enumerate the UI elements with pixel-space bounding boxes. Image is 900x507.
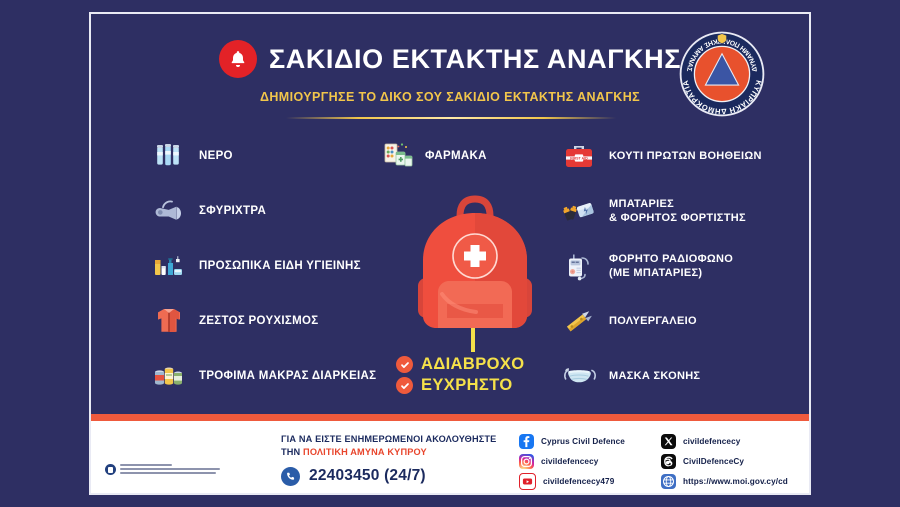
instagram-icon: [519, 454, 534, 469]
list-item-portable-radio: ΦΟΡΗΤΟ ΡΑΔΙΟΦΩΝΟ (ΜΕ ΜΠΑΤΑΡΙΕΣ): [559, 242, 809, 290]
list-item-label: ΚΟΥΤΙ ΠΡΩΤΩΝ ΒΟΗΘΕΙΩΝ: [609, 149, 762, 163]
social-links: Cyprus Civil Defence civildefencecy civi…: [519, 433, 801, 490]
ministry-logo-text: [120, 463, 220, 485]
canned-food-icon: [149, 356, 189, 396]
list-item-label: ΝΕΡΟ: [199, 149, 233, 164]
phone-number: 22403450 (24/7): [309, 467, 426, 485]
social-link-youtube[interactable]: civildefencecy479: [519, 473, 661, 490]
social-handle: civildefencecy: [683, 437, 740, 446]
list-item-label: ΖΕΣΤΟΣ ΡΟΥΧΙΣΜΟΣ: [199, 314, 318, 329]
right-items-column: FIRST AID ΚΟΥΤΙ ΠΡΩΤΩΝ ΒΟΗΘΕΙΩΝ: [559, 132, 809, 462]
orange-divider-bar: [91, 414, 809, 421]
list-item-label-line1: ΦΟΡΗΤΟ ΡΑΔΙΟΦΩΝΟ: [609, 253, 733, 265]
center-item-label: ΦΑΡΜΑΚΑ: [425, 150, 487, 162]
left-items-column: ΝΕΡΟ ΣΦΥΡΙΧΤΡΑ: [149, 132, 399, 462]
list-item-multitool: ΠΟΛΥΕΡΓΑΛΕΙΟ: [559, 297, 809, 345]
hygiene-items-icon: [149, 246, 189, 286]
poster-footer: ΓΙΑ ΝΑ ΕΙΣΤΕ ΕΝΗΜΕΡΩΜΕΝΟΙ ΑΚΟΛΟΥΘΗΣΤΕ ΤΗ…: [91, 421, 809, 493]
list-item-hygiene: ΠΡΟΣΩΠΙΚΑ ΕΙΔΗ ΥΓΙΕΙΝΗΣ: [149, 242, 399, 290]
youtube-icon: [519, 473, 536, 490]
list-item-label-line2: (ΜΕ ΜΠΑΤΑΡΙΕΣ): [609, 267, 702, 279]
list-item-label-line2: & ΦΟΡΗΤΟΣ ΦΟΡΤΙΣΤΗΣ: [609, 212, 746, 224]
footer-message-highlight: ΠΟΛΙΤΙΚΗ ΑΜΥΝΑ ΚΥΠΡΟΥ: [303, 447, 427, 457]
list-item-label: ΦΟΡΗΤΟ ΡΑΔΙΟΦΩΝΟ (ΜΕ ΜΠΑΤΑΡΙΕΣ): [609, 252, 733, 280]
gold-divider: [286, 117, 616, 119]
check-circle-icon: [396, 377, 413, 394]
bell-icon: [219, 40, 257, 78]
globe-icon: [661, 474, 676, 489]
feature-waterproof: ΑΔΙΑΒΡΟΧΟ: [396, 356, 524, 373]
infographic-card: ΣΑΚΙΔΙΟ ΕΚΤΑΚΤΗΣ ΑΝΑΓΚΗΣ ΔΗΜΙΟΥΡΓΗΣΕ ΤΟ …: [89, 12, 811, 495]
first-aid-kit-icon: FIRST AID: [559, 136, 599, 176]
whistle-icon: [149, 191, 189, 231]
civil-defence-emblem-icon: ΚΥΠΡΙΑΚΗ ΔΗΜΟΚΡΑΤΙΑ ΔΥΝΑΜΗ ΠΟΛΙΤΙΚΗΣ ΑΜΥ…: [676, 28, 768, 120]
center-column: ΦΑΡΜΑΚΑ: [378, 132, 568, 180]
social-handle: https://www.moi.gov.cy/cd: [683, 477, 788, 486]
social-link-website[interactable]: https://www.moi.gov.cy/cd: [661, 473, 801, 490]
social-handle: CivilDefenceCy: [683, 457, 744, 466]
water-bottles-icon: [149, 136, 189, 176]
backpack-features: ΑΔΙΑΒΡΟΧΟ ΕΥΧΡΗΣΤΟ: [396, 356, 524, 398]
list-item-long-life-food: ΤΡΟΦΙΜΑ ΜΑΚΡΑΣ ΔΙΑΡΚΕΙΑΣ: [149, 352, 399, 400]
svg-text:FIRST AID: FIRST AID: [570, 156, 588, 160]
dust-mask-icon: [559, 356, 599, 396]
social-link-instagram[interactable]: civildefencecy: [519, 453, 661, 470]
list-item-whistle: ΣΦΥΡΙΧΤΡΑ: [149, 187, 399, 235]
feature-label: ΑΔΙΑΒΡΟΧΟ: [421, 356, 524, 373]
x-twitter-icon: [661, 434, 676, 449]
social-handle: civildefencecy479: [543, 477, 614, 486]
batteries-powerbank-icon: [559, 191, 599, 231]
list-item-label: ΤΡΟΦΙΜΑ ΜΑΚΡΑΣ ΔΙΑΡΚΕΙΑΣ: [199, 369, 376, 384]
social-link-threads[interactable]: CivilDefenceCy: [661, 453, 801, 470]
social-handle: Cyprus Civil Defence: [541, 437, 625, 446]
footer-message-prefix: ΤΗΝ: [281, 447, 303, 457]
list-item-label: ΜΑΣΚΑ ΣΚΟΝΗΣ: [609, 369, 700, 383]
list-item-dust-mask: ΜΑΣΚΑ ΣΚΟΝΗΣ: [559, 352, 809, 400]
list-item-medicine: ΦΑΡΜΑΚΑ: [378, 132, 568, 180]
footer-message-line2: ΤΗΝ ΠΟΛΙΤΙΚΗ ΑΜΥΝΑ ΚΥΠΡΟΥ: [281, 446, 531, 459]
medicine-icon: [378, 137, 416, 175]
footer-message: ΓΙΑ ΝΑ ΕΙΣΤΕ ΕΝΗΜΕΡΩΜΕΝΟΙ ΑΚΟΛΟΥΘΗΣΤΕ ΤΗ…: [281, 433, 531, 486]
list-item-batteries-charger: ΜΠΑΤΑΡΙΕΣ & ΦΟΡΗΤΟΣ ΦΟΡΤΙΣΤΗΣ: [559, 187, 809, 235]
list-item-label: ΣΦΥΡΙΧΤΡΑ: [199, 204, 266, 219]
feature-label: ΕΥΧΡΗΣΤΟ: [421, 377, 513, 394]
list-item-first-aid-kit: FIRST AID ΚΟΥΤΙ ΠΡΩΤΩΝ ΒΟΗΘΕΙΩΝ: [559, 132, 809, 180]
threads-icon: [661, 454, 676, 469]
phone-row[interactable]: 22403450 (24/7): [281, 467, 531, 486]
feature-easy-to-use: ΕΥΧΡΗΣΤΟ: [396, 377, 524, 394]
social-handle: civildefencecy: [541, 457, 598, 466]
warm-jacket-icon: [149, 301, 189, 341]
multitool-icon: [559, 301, 599, 341]
check-circle-icon: [396, 356, 413, 373]
facebook-icon: [519, 434, 534, 449]
list-item-label: ΠΡΟΣΩΠΙΚΑ ΕΙΔΗ ΥΓΙΕΙΝΗΣ: [199, 259, 361, 274]
list-item-label: ΠΟΛΥΕΡΓΑΛΕΙΟ: [609, 314, 697, 328]
portable-radio-icon: [559, 246, 599, 286]
list-item-warm-clothing: ΖΕΣΤΟΣ ΡΟΥΧΙΣΜΟΣ: [149, 297, 399, 345]
phone-icon: [281, 467, 300, 486]
list-item-label: ΜΠΑΤΑΡΙΕΣ & ΦΟΡΗΤΟΣ ΦΟΡΤΙΣΤΗΣ: [609, 197, 746, 225]
poster-canvas: ΣΑΚΙΔΙΟ ΕΚΤΑΚΤΗΣ ΑΝΑΓΚΗΣ ΔΗΜΙΟΥΡΓΗΣΕ ΤΟ …: [0, 0, 900, 507]
social-link-x[interactable]: civildefencecy: [661, 433, 801, 450]
social-link-facebook[interactable]: Cyprus Civil Defence: [519, 433, 661, 450]
page-title: ΣΑΚΙΔΙΟ ΕΚΤΑΚΤΗΣ ΑΝΑΓΚΗΣ: [269, 46, 681, 73]
ministry-logo-mark: [105, 464, 116, 475]
ministry-logo: [105, 463, 233, 485]
list-item-label-line1: ΜΠΑΤΑΡΙΕΣ: [609, 198, 674, 210]
red-backpack-icon: [400, 182, 550, 354]
footer-message-line1: ΓΙΑ ΝΑ ΕΙΣΤΕ ΕΝΗΜΕΡΩΜΕΝΟΙ ΑΚΟΛΟΥΘΗΣΤΕ: [281, 433, 531, 446]
list-item-water: ΝΕΡΟ: [149, 132, 399, 180]
